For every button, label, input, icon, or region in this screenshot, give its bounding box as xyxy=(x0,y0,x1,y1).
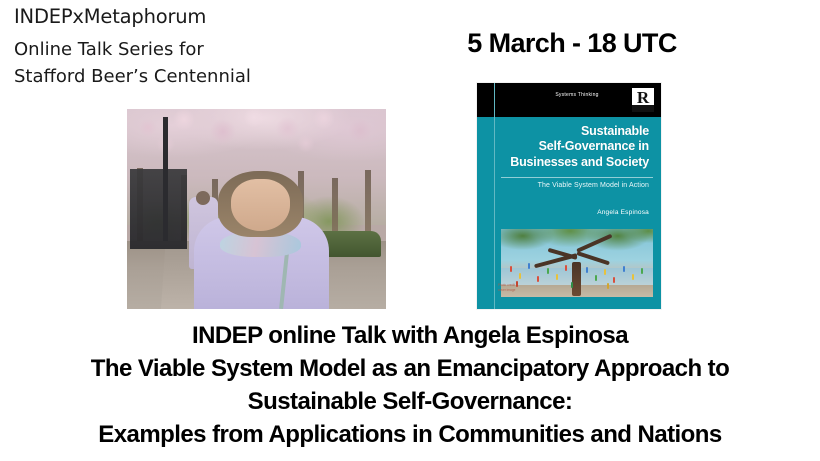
book-photo-credit: Photo credit cover image xyxy=(498,283,548,293)
routledge-logo-bar xyxy=(632,105,654,112)
book-title: Sustainable Self-Governance in Businesse… xyxy=(499,124,655,170)
photo-background-person-head xyxy=(196,191,210,205)
book-subtitle: The Viable System Model in Action xyxy=(499,182,655,189)
event-date: 5 March - 18 UTC xyxy=(452,28,692,59)
brand-title: INDEPxMetaphorum xyxy=(14,6,354,28)
photo-speaker-face xyxy=(231,179,291,231)
brand-block: INDEPxMetaphorum Online Talk Series for … xyxy=(14,6,354,90)
book-title-line-3: Businesses and Society xyxy=(499,155,649,170)
book-photo-credit-line-2: cover image xyxy=(498,288,548,293)
book-title-divider xyxy=(501,177,653,178)
talk-title-line-4: Examples from Applications in Communitie… xyxy=(0,419,820,452)
book-cover-spine-top xyxy=(477,83,494,117)
photo-signboard xyxy=(130,169,187,249)
book-author: Angela Espinosa xyxy=(499,209,655,216)
event-poster: INDEPxMetaphorum Online Talk Series for … xyxy=(0,0,820,461)
talk-title: INDEP online Talk with Angela Espinosa T… xyxy=(0,320,820,452)
talk-title-line-3: Sustainable Self-Governance: xyxy=(0,386,820,419)
talk-title-line-1: INDEP online Talk with Angela Espinosa xyxy=(0,320,820,353)
book-title-line-1: Sustainable xyxy=(499,124,649,139)
book-cover: Systems Thinking R Sustainable Self-Gove… xyxy=(477,83,661,309)
speaker-photo xyxy=(127,109,386,309)
routledge-logo-letter: R xyxy=(637,89,649,106)
book-title-line-2: Self-Governance in xyxy=(499,139,649,154)
series-line-2: Stafford Beer’s Centennial xyxy=(14,64,354,90)
photo-lamp-post xyxy=(163,117,168,241)
series-line-1: Online Talk Series for xyxy=(14,37,354,63)
routledge-logo-icon: R xyxy=(632,88,654,112)
book-series-label: Systems Thinking xyxy=(523,92,631,98)
talk-title-line-2: The Viable System Model as an Emancipato… xyxy=(0,353,820,386)
